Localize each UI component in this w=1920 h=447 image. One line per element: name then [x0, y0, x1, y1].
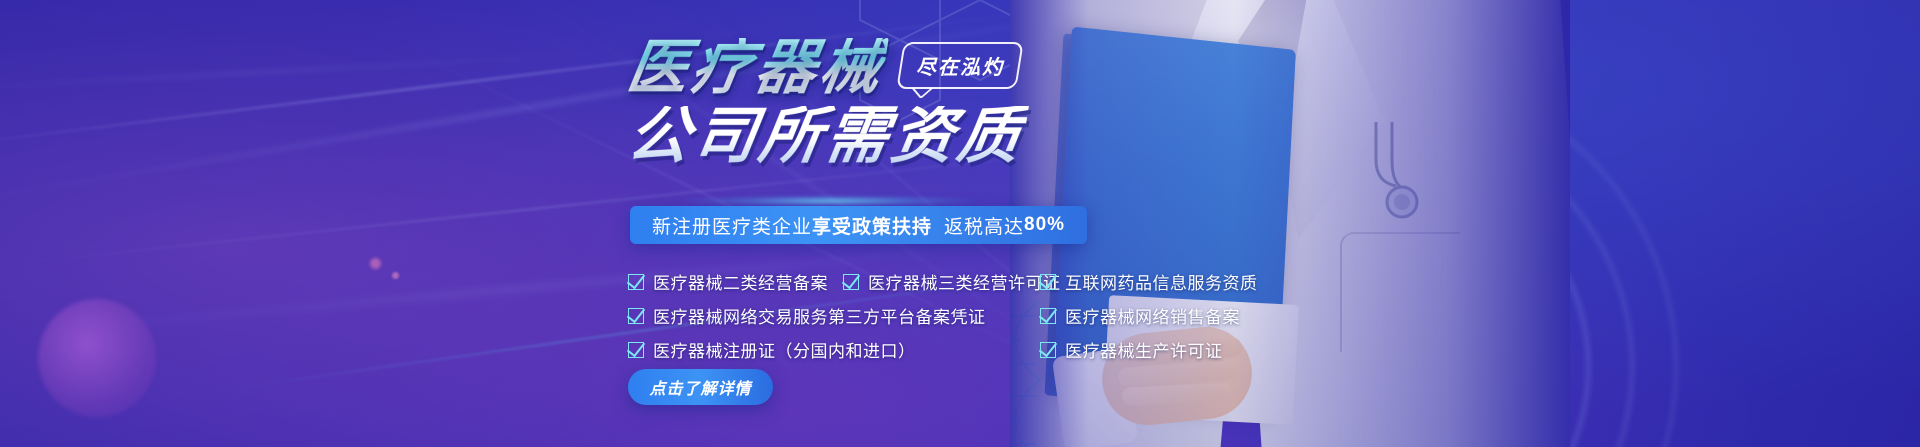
list-item-label: 医疗器械网络交易服务第三方平台备案凭证 — [653, 303, 986, 328]
medical-device-promo-banner: 医疗器械 尽在泓灼 公司所需资质 新注册医疗类企业享受政策扶持返税高达80% 医… — [0, 0, 1920, 447]
list-item-label: 互联网药品信息服务资质 — [1065, 269, 1258, 294]
list-item-label: 医疗器械网络销售备案 — [1065, 303, 1240, 328]
headline-glow-decoration — [680, 196, 980, 206]
list-item[interactable]: 医疗器械注册证（分国内和进口） — [628, 334, 916, 365]
check-icon — [1040, 274, 1056, 290]
list-item[interactable]: 医疗器械生产许可证 — [1040, 334, 1223, 365]
learn-more-button[interactable]: 点击了解详情 — [628, 369, 773, 405]
headline-secondary: 公司所需资质 — [623, 106, 1029, 168]
brand-callout-label: 尽在泓灼 — [916, 51, 1004, 80]
check-icon — [1040, 308, 1056, 324]
list-item[interactable]: 医疗器械三类经营许可证 — [843, 266, 1061, 297]
check-icon — [843, 274, 859, 290]
list-item-label: 医疗器械二类经营备案 — [653, 269, 828, 294]
list-item-label: 医疗器械注册证（分国内和进口） — [653, 337, 916, 362]
list-item[interactable]: 医疗器械二类经营备案 — [628, 266, 828, 297]
promo-text-part2: 享受政策扶持 — [812, 212, 932, 239]
headline-primary: 医疗器械 — [623, 38, 889, 98]
check-icon — [628, 308, 644, 324]
promo-subtitle-bar: 新注册医疗类企业享受政策扶持返税高达80% — [630, 206, 1087, 244]
promo-text-part1: 新注册医疗类企业 — [652, 212, 812, 239]
promo-text-part4: 80% — [1024, 214, 1065, 236]
list-item[interactable]: 医疗器械网络销售备案 — [1040, 300, 1240, 331]
list-item-label: 医疗器械生产许可证 — [1065, 337, 1223, 362]
promo-text-part3: 返税高达 — [944, 212, 1024, 239]
qualification-checklist: 医疗器械二类经营备案 医疗器械三类经营许可证 互联网药品信息服务资质 — [628, 266, 1268, 368]
list-item[interactable]: 互联网药品信息服务资质 — [1040, 266, 1258, 297]
list-item-label: 医疗器械三类经营许可证 — [868, 269, 1061, 294]
brand-callout-badge: 尽在泓灼 — [896, 42, 1023, 89]
banner-content: 医疗器械 尽在泓灼 公司所需资质 新注册医疗类企业享受政策扶持返税高达80% 医… — [0, 0, 1920, 447]
checklist-row: 医疗器械注册证（分国内和进口） 医疗器械生产许可证 — [628, 334, 1268, 368]
checklist-row: 医疗器械网络交易服务第三方平台备案凭证 医疗器械网络销售备案 — [628, 300, 1268, 334]
check-icon — [628, 274, 644, 290]
check-icon — [628, 342, 644, 358]
checklist-row: 医疗器械二类经营备案 医疗器械三类经营许可证 互联网药品信息服务资质 — [628, 266, 1268, 300]
list-item[interactable]: 医疗器械网络交易服务第三方平台备案凭证 — [628, 300, 986, 331]
headline-block: 医疗器械 尽在泓灼 公司所需资质 — [628, 38, 1024, 168]
check-icon — [1040, 342, 1056, 358]
